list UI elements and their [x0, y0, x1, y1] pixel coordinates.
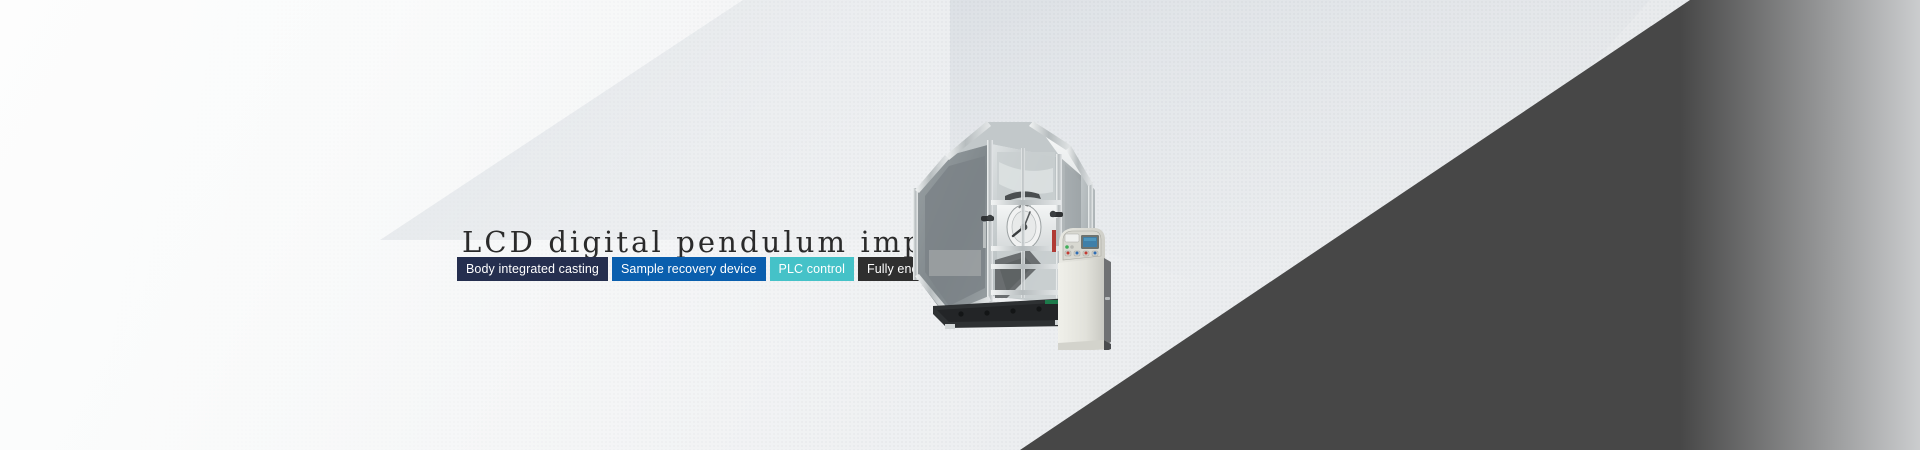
glass-left-reflection — [929, 250, 981, 276]
console-illustration — [1053, 225, 1123, 350]
control-console-image — [1053, 225, 1123, 350]
machine-foot-left — [945, 324, 955, 329]
console-cabinet — [1058, 258, 1104, 345]
product-banner: LCD digital pendulum impact tester Body … — [0, 0, 1920, 450]
badge-sample-recovery-device[interactable]: Sample recovery device — [612, 257, 766, 281]
console-side-handle — [1105, 297, 1110, 300]
indicator-lamp-green — [1065, 245, 1069, 249]
console-lcd-line — [1084, 238, 1096, 241]
console-cabinet-side — [1104, 258, 1111, 346]
badge-body-integrated-casting[interactable]: Body integrated casting — [457, 257, 608, 281]
indicator-lamp-white — [1070, 245, 1074, 249]
console-printer-slot — [1065, 234, 1079, 242]
badge-plc-control[interactable]: PLC control — [770, 257, 854, 281]
